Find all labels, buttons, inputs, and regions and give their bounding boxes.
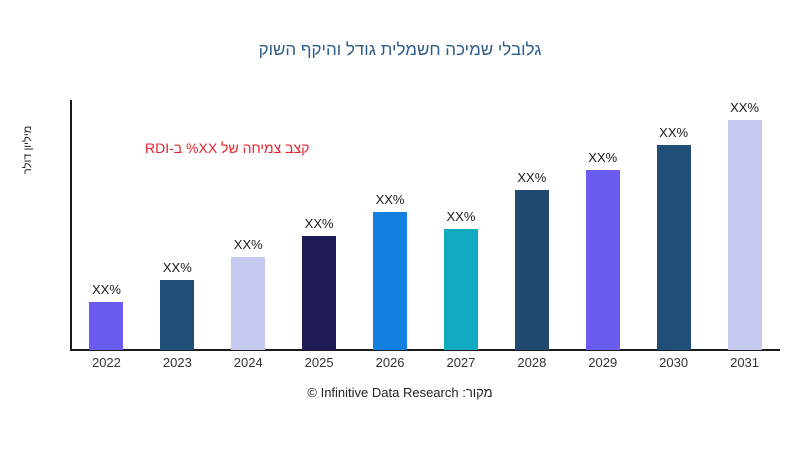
bar-value-label: XX% [92, 282, 121, 297]
bar-value-label: XX% [376, 192, 405, 207]
bar[interactable] [160, 280, 194, 350]
bar[interactable] [302, 236, 336, 350]
bar[interactable] [515, 190, 549, 350]
x-tick-label: 2022 [92, 355, 121, 370]
bar-group: XX% [496, 100, 567, 350]
x-axis-tick-labels: 2022202320242025202620272028202920302031 [71, 355, 780, 377]
x-tick-label: 2029 [588, 355, 617, 370]
bar-value-label: XX% [305, 216, 334, 231]
bar-group: XX% [142, 100, 213, 350]
bar-group: XX% [426, 100, 497, 350]
bar-value-label: XX% [446, 209, 475, 224]
y-axis-label: מיליון דולר [22, 100, 42, 200]
bar-group: XX% [355, 100, 426, 350]
source-note: מקור: Infinitive Data Research © [0, 385, 800, 400]
bar[interactable] [586, 170, 620, 350]
bar-group: XX% [638, 100, 709, 350]
bar-value-label: XX% [163, 260, 192, 275]
x-tick-label: 2024 [234, 355, 263, 370]
x-tick-label: 2028 [517, 355, 546, 370]
x-tick-label: 2026 [376, 355, 405, 370]
bar-group: XX% [709, 100, 780, 350]
x-tick-label: 2025 [305, 355, 334, 370]
bar-chart: גלובלי שמיכה חשמלית גודל והיקף השוק קצב … [0, 0, 800, 450]
bar-value-label: XX% [588, 150, 617, 165]
bar[interactable] [728, 120, 762, 350]
bar-value-label: XX% [659, 125, 688, 140]
bar-value-label: XX% [730, 100, 759, 115]
bar[interactable] [89, 302, 123, 350]
bar-value-label: XX% [517, 170, 546, 185]
x-tick-label: 2031 [730, 355, 759, 370]
bar[interactable] [657, 145, 691, 350]
bar[interactable] [444, 229, 478, 350]
x-tick-label: 2027 [446, 355, 475, 370]
bar-group: XX% [567, 100, 638, 350]
x-tick-label: 2023 [163, 355, 192, 370]
bar-group: XX% [213, 100, 284, 350]
bar-value-label: XX% [234, 237, 263, 252]
plot-area: XX%XX%XX%XX%XX%XX%XX%XX%XX%XX% [71, 100, 780, 350]
bar[interactable] [373, 212, 407, 350]
bar-group: XX% [284, 100, 355, 350]
x-tick-label: 2030 [659, 355, 688, 370]
bar[interactable] [231, 257, 265, 350]
bar-group: XX% [71, 100, 142, 350]
chart-title: גלובלי שמיכה חשמלית גודל והיקף השוק [0, 40, 800, 60]
